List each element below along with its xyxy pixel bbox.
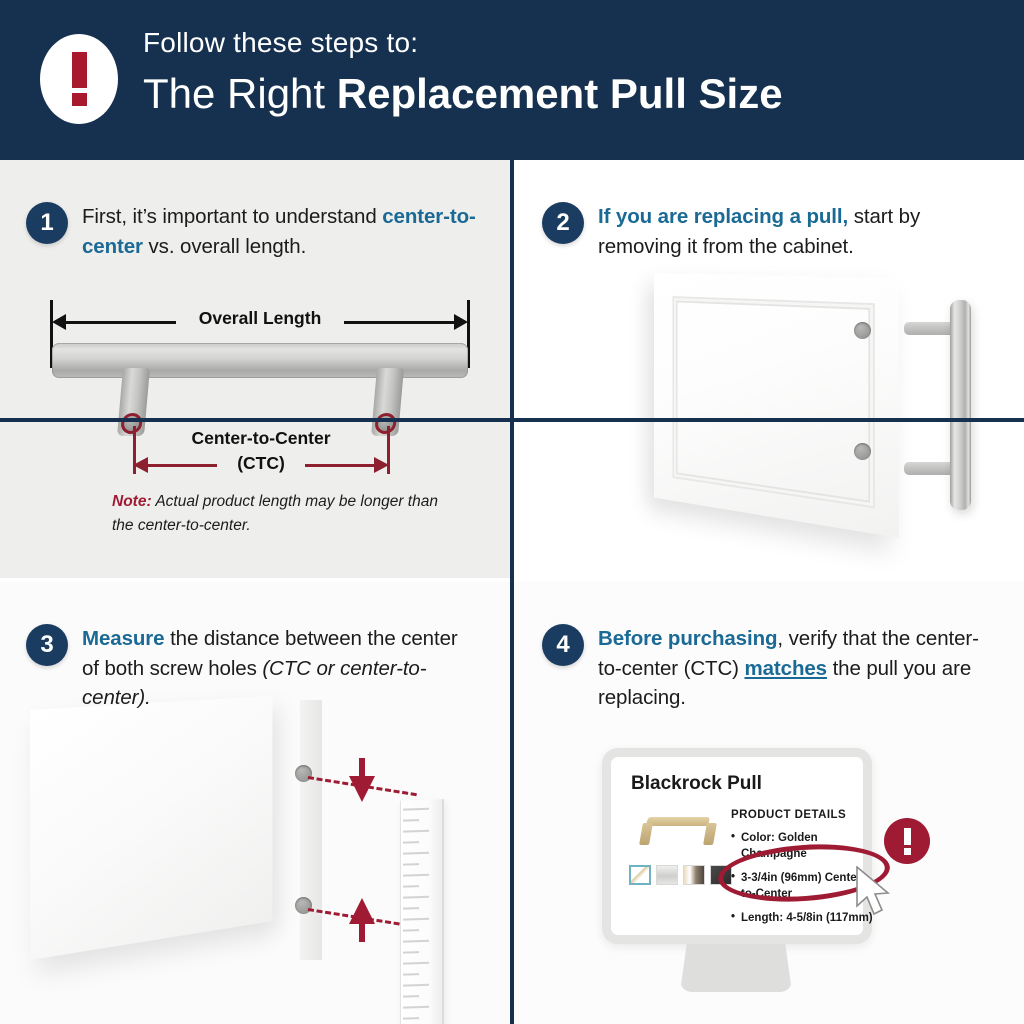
ruler-tick xyxy=(403,841,419,844)
ctc-label: Center-to-Center xyxy=(191,428,330,449)
dim-line-right xyxy=(344,321,462,324)
ruler-tick xyxy=(403,885,419,888)
pull-dimension-diagram: Overall Length Center-to-Center xyxy=(50,300,470,480)
cabinet-door-panel-inset xyxy=(673,296,875,508)
product-thumbnail-strip xyxy=(629,865,732,885)
pull-bar-graphic xyxy=(52,343,468,378)
step-4-link[interactable]: matches xyxy=(744,657,826,680)
ruler-tick xyxy=(403,874,429,877)
ruler-tick xyxy=(403,1017,419,1020)
step-4-text: Before purchasing, verify that the cente… xyxy=(598,624,1002,713)
infographic-page: Follow these steps to: The Right Replace… xyxy=(0,0,1024,1024)
product-thumbnail-2[interactable] xyxy=(656,865,678,885)
measure-screw-hole-top xyxy=(295,765,312,782)
cabinet-door-graphic xyxy=(654,273,899,538)
ruler-tick xyxy=(403,984,429,987)
step-2-accent: If you are replacing a pull, xyxy=(598,205,848,228)
note-label: Note: xyxy=(112,493,152,510)
ruler-tick xyxy=(403,808,429,811)
ruler-tick xyxy=(403,896,429,899)
note-text: Actual product length may be longer than… xyxy=(112,493,438,534)
cabinet-screw-hole-bottom xyxy=(854,443,871,460)
ruler-tick xyxy=(403,852,429,855)
monitor-stand xyxy=(680,944,792,992)
cabinet-door-edge xyxy=(300,700,322,960)
alert-exclamation-icon xyxy=(884,818,930,864)
step-1-number: 1 xyxy=(26,202,68,244)
header-kicker: Follow these steps to: xyxy=(143,28,783,59)
pull-bar-vertical xyxy=(950,300,971,510)
step-3-accent: Measure xyxy=(82,627,164,650)
panel-divider-vertical xyxy=(510,160,514,1024)
step-3-text: Measure the distance between the center … xyxy=(82,624,466,713)
step-2-text: If you are replacing a pull, start by re… xyxy=(598,202,962,261)
ruler-tick xyxy=(403,819,419,822)
ruler-graphic xyxy=(400,799,444,1024)
pull-post-top xyxy=(904,322,956,335)
step-2-number: 2 xyxy=(542,202,584,244)
arrow-up-icon xyxy=(349,898,375,942)
step-1-heading: 1 First, it’s important to understand ce… xyxy=(26,202,476,261)
dim-line-left xyxy=(58,321,176,324)
ruler-tick xyxy=(403,940,429,943)
panel-divider-horizontal xyxy=(0,418,1024,422)
panel-step-1: 1 First, it’s important to understand ce… xyxy=(0,160,510,578)
product-hero-image xyxy=(631,805,725,859)
step-1-lead: First, it’s important to understand xyxy=(82,205,382,228)
ctc-line-left xyxy=(145,464,217,467)
step-4-heading: 4 Before purchasing, verify that the cen… xyxy=(542,624,1002,713)
ruler-tick xyxy=(403,1006,429,1009)
panel-step-2: 2 If you are replacing a pull, start by … xyxy=(514,160,1024,578)
ruler-tick xyxy=(403,863,419,866)
arrow-right-icon xyxy=(454,314,468,330)
ruler-tick xyxy=(403,951,419,954)
mouse-pointer-icon xyxy=(855,866,895,918)
panel-1-note: Note: Actual product length may be longe… xyxy=(112,490,452,538)
ruler-tick xyxy=(403,907,419,910)
title-bold: Replacement Pull Size xyxy=(337,70,783,117)
step-3-heading: 3 Measure the distance between the cente… xyxy=(26,624,466,713)
header-text-block: Follow these steps to: The Right Replace… xyxy=(143,28,783,118)
cabinet-screw-hole-top xyxy=(854,322,871,339)
arrow-down-icon xyxy=(349,758,375,802)
ruler-tick xyxy=(403,973,419,976)
product-details-heading: PRODUCT DETAILS xyxy=(731,809,846,821)
pull-post-bottom xyxy=(904,462,956,475)
cabinet-door-graphic-measure xyxy=(30,696,272,960)
overall-length-dimension: Overall Length xyxy=(50,300,470,340)
measure-screw-hole-bottom xyxy=(295,897,312,914)
product-thumbnail-1[interactable] xyxy=(629,865,651,885)
ruler-tick xyxy=(403,918,429,921)
ruler-tick xyxy=(403,995,419,998)
ctc-line-right xyxy=(305,464,377,467)
ruler-tick xyxy=(403,929,419,932)
ctc-arrow-right-icon xyxy=(374,457,389,473)
step-4-accent: Before purchasing xyxy=(598,627,777,650)
ctc-abbreviation-label: (CTC) xyxy=(230,453,292,474)
header-banner: Follow these steps to: The Right Replace… xyxy=(0,0,1024,160)
gold-pull-graphic xyxy=(637,817,719,847)
product-thumbnail-3[interactable] xyxy=(683,865,705,885)
page-title: The Right Replacement Pull Size xyxy=(143,69,783,119)
exclamation-icon xyxy=(40,34,118,124)
ruler-tick xyxy=(403,962,429,965)
title-plain: The Right xyxy=(143,70,337,117)
step-1-text: First, it’s important to understand cent… xyxy=(82,202,476,261)
step-3-number: 3 xyxy=(26,624,68,666)
ruler-tick xyxy=(403,830,429,833)
screw-hole-right xyxy=(374,413,397,434)
screw-hole-left xyxy=(120,413,143,434)
step-4-number: 4 xyxy=(542,624,584,666)
product-title: Blackrock Pull xyxy=(631,773,762,795)
overall-length-label: Overall Length xyxy=(191,308,330,329)
step-2-heading: 2 If you are replacing a pull, start by … xyxy=(542,202,962,261)
step-1-tail: vs. overall length. xyxy=(143,235,306,258)
